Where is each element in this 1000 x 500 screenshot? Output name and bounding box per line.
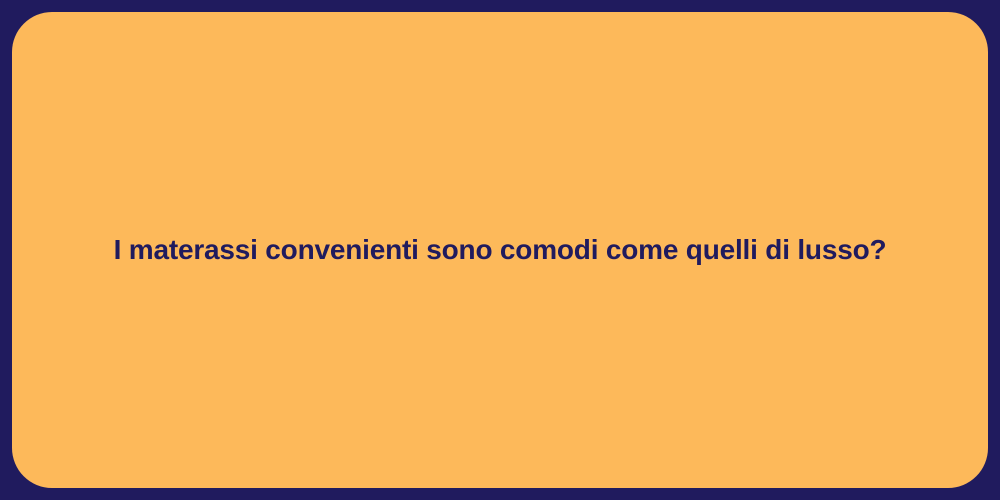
card-frame: I materassi convenienti sono comodi come… <box>0 0 1000 500</box>
card-surface: I materassi convenienti sono comodi come… <box>12 12 988 488</box>
headline-text: I materassi convenienti sono comodi come… <box>114 231 887 269</box>
